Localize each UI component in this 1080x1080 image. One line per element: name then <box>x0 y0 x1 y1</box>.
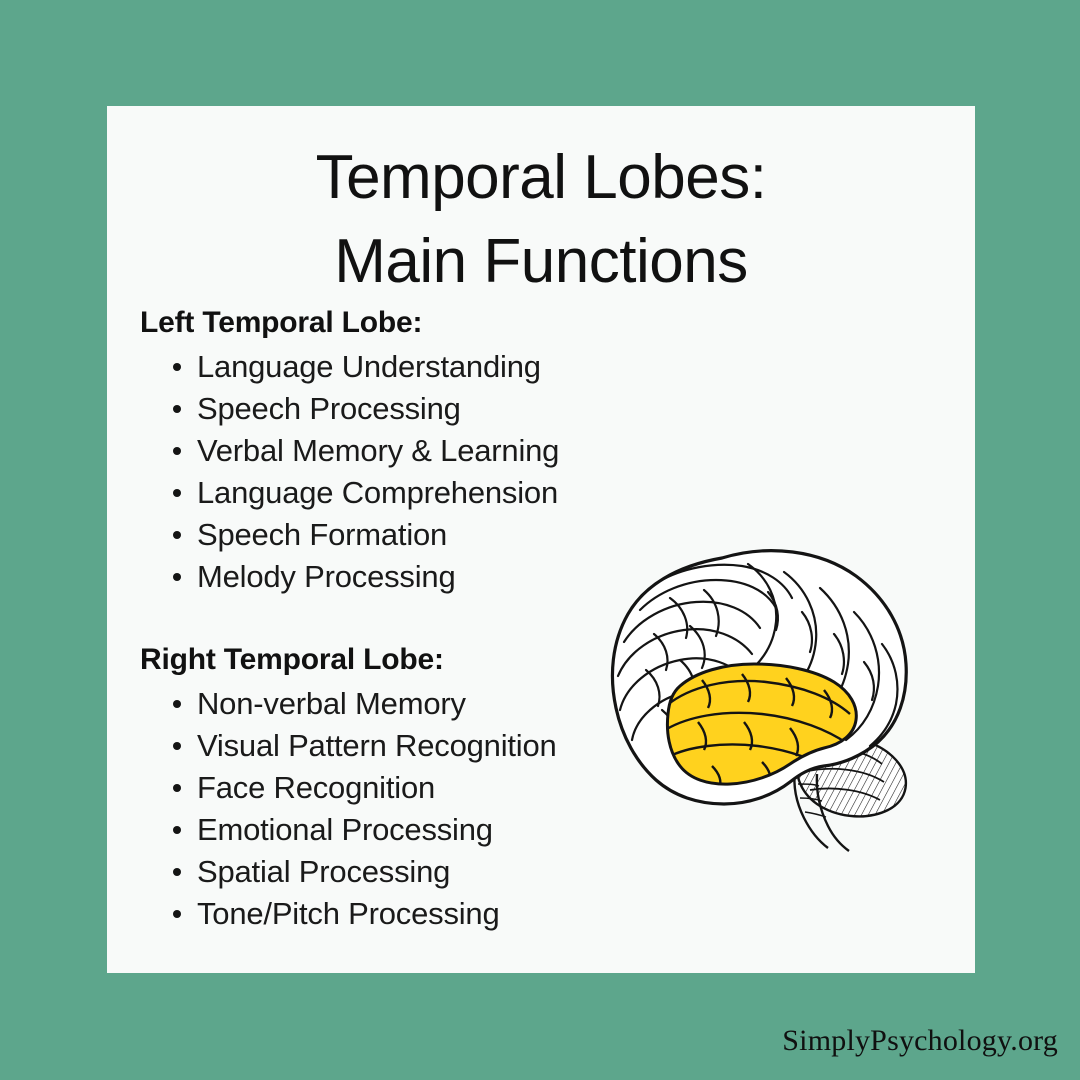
list-item-label: Emotional Processing <box>197 812 493 847</box>
bullet-icon <box>173 405 181 413</box>
watermark-simplypsychology: SimplyPsychology.org <box>782 1024 1058 1058</box>
list-item: Language Understanding <box>169 346 940 388</box>
title-line-1: Temporal Lobes: <box>107 136 975 220</box>
brain-group <box>612 551 906 851</box>
list-item-label: Visual Pattern Recognition <box>197 728 557 763</box>
list-item: Verbal Memory & Learning <box>169 430 940 472</box>
list-item-label: Speech Formation <box>197 517 447 552</box>
list-item: Spatial Processing <box>169 851 940 893</box>
bullet-icon <box>173 573 181 581</box>
bullet-icon <box>173 910 181 918</box>
list-item-label: Melody Processing <box>197 559 456 594</box>
list-item-label: Non-verbal Memory <box>197 686 466 721</box>
list-item-label: Language Comprehension <box>197 475 558 510</box>
bullet-icon <box>173 531 181 539</box>
list-item-label: Verbal Memory & Learning <box>197 433 559 468</box>
bullet-icon <box>173 700 181 708</box>
bullet-icon <box>173 826 181 834</box>
bullet-icon <box>173 447 181 455</box>
bullet-icon <box>173 489 181 497</box>
title-line-2: Main Functions <box>107 220 975 304</box>
page-title: Temporal Lobes: Main Functions <box>107 136 975 304</box>
list-item-label: Language Understanding <box>197 349 541 384</box>
infographic-canvas: Temporal Lobes: Main Functions Left Temp… <box>0 0 1080 1080</box>
bullet-icon <box>173 363 181 371</box>
brain-lateral-svg <box>562 534 932 854</box>
section-heading-left: Left Temporal Lobe: <box>140 306 940 340</box>
content-card: Temporal Lobes: Main Functions Left Temp… <box>107 106 975 973</box>
list-item: Tone/Pitch Processing <box>169 893 940 935</box>
list-item-label: Speech Processing <box>197 391 461 426</box>
bullet-icon <box>173 868 181 876</box>
list-item: Speech Processing <box>169 388 940 430</box>
brain-illustration <box>562 534 932 854</box>
list-item-label: Tone/Pitch Processing <box>197 896 500 931</box>
list-item-label: Spatial Processing <box>197 854 450 889</box>
list-item-label: Face Recognition <box>197 770 435 805</box>
bullet-icon <box>173 742 181 750</box>
bullet-icon <box>173 784 181 792</box>
list-item: Language Comprehension <box>169 472 940 514</box>
